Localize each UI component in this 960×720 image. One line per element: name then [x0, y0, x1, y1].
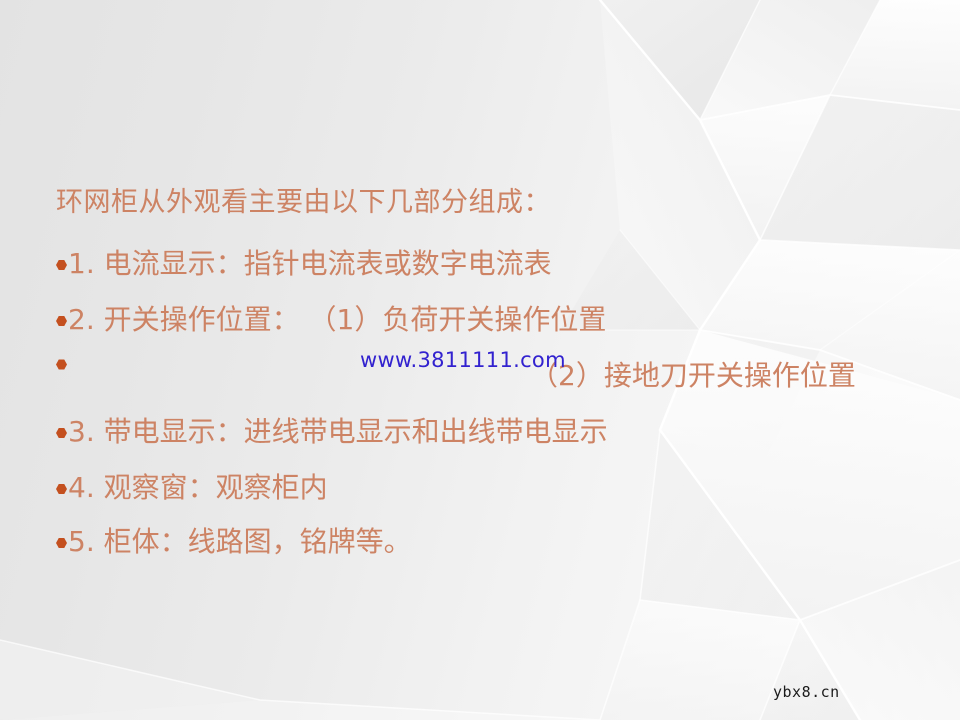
list-item: 3. 带电显示：进线带电显示和出线带电显示 [56, 414, 608, 450]
list-item: 2. 开关操作位置： （1）负荷开关操作位置 [56, 302, 606, 338]
list-item-label: 2. 开关操作位置： （1）负荷开关操作位置 [68, 302, 606, 338]
page-title: 环网柜从外观看主要由以下几部分组成： [56, 186, 551, 220]
list-item-label: 3. 带电显示：进线带电显示和出线带电显示 [68, 414, 608, 450]
hexagon-bullet-icon [56, 359, 67, 370]
site-watermark: ybx8.cn [773, 683, 840, 701]
hexagon-bullet-icon [56, 260, 67, 271]
list-item [56, 358, 68, 369]
list-item-label: 4. 观察窗：观察柜内 [68, 470, 328, 506]
url-watermark: www.3811111.com [360, 348, 566, 372]
list-item: 5. 柜体：线路图，铭牌等。 [56, 524, 412, 560]
hexagon-bullet-icon [56, 484, 67, 495]
continuation-fragment: （2）接地刀开关操作位置 [530, 358, 856, 394]
hexagon-bullet-icon [56, 428, 67, 439]
hexagon-bullet-icon [56, 316, 67, 327]
hexagon-bullet-icon [56, 538, 67, 549]
list-item-label: 1. 电流显示：指针电流表或数字电流表 [68, 246, 552, 282]
list-item: 1. 电流显示：指针电流表或数字电流表 [56, 246, 552, 282]
slide-canvas: 环网柜从外观看主要由以下几部分组成： 1. 电流显示：指针电流表或数字电流表 2… [0, 0, 960, 720]
list-item: 4. 观察窗：观察柜内 [56, 470, 328, 506]
list-item-label: 5. 柜体：线路图，铭牌等。 [68, 524, 412, 560]
